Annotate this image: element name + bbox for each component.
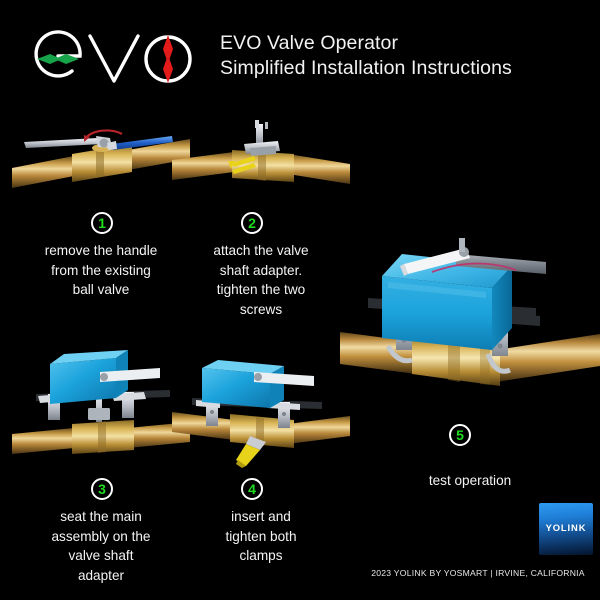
step-2-caption-line: attach the valve — [172, 241, 350, 261]
evo-logo-svg — [28, 28, 208, 90]
step-2-caption-line: tighten the two — [172, 280, 350, 300]
step-5-illustration — [340, 214, 600, 416]
valve-shaft-adapter — [244, 120, 280, 156]
step-2-caption-line: shaft adapter. — [172, 261, 350, 281]
step-4-caption-line: tighten both — [172, 527, 350, 547]
step-3-caption-line: seat the main — [12, 507, 190, 527]
removed-valve-handle — [24, 136, 112, 148]
evo-logo-letter-o — [146, 35, 190, 83]
step-1-caption-line: from the existing — [12, 261, 190, 281]
evo-actuator-body — [202, 360, 284, 408]
yolink-logo-text: YOLINK — [539, 522, 593, 533]
step-2-badge: 2 — [241, 212, 263, 234]
title-line-primary: EVO Valve Operator — [220, 31, 596, 56]
step-1-art — [12, 118, 190, 210]
step-3-caption-line: valve shaft — [12, 546, 190, 566]
step-5-caption-line: test operation — [340, 471, 600, 491]
instruction-poster: EVO Valve Operator Simplified Installati… — [0, 0, 600, 600]
yolink-brand-logo: YOLINK — [539, 503, 593, 555]
brass-ball-valve — [72, 144, 132, 182]
step-3-badge: 3 — [91, 478, 113, 500]
step-4-caption-line: clamps — [172, 546, 350, 566]
evo-logo-letter-e — [36, 32, 80, 76]
step-3-caption-line: adapter — [12, 566, 190, 586]
title-line-secondary: Simplified Installation Instructions — [220, 56, 596, 81]
step-5-badge: 5 — [449, 424, 471, 446]
step-4-caption: insert and tighten both clamps — [172, 507, 350, 566]
step-3-illustration — [12, 350, 190, 468]
step-2-art — [172, 118, 350, 210]
step-1-caption-line: remove the handle — [12, 241, 190, 261]
step-2-caption-line: screws — [172, 300, 350, 320]
step-1-badge: 1 — [91, 212, 113, 234]
step-5-caption: test operation — [340, 471, 600, 491]
step-4-illustration — [172, 350, 350, 468]
step-5-art — [340, 214, 600, 416]
footer-copyright: 2023 YOLINK BY YOSMART | IRVINE, CALIFOR… — [360, 568, 596, 578]
poster-title: EVO Valve Operator Simplified Installati… — [220, 31, 596, 81]
step-1-caption-line: ball valve — [12, 280, 190, 300]
step-3-caption: seat the main assembly on the valve shaf… — [12, 507, 190, 585]
step-1-illustration — [12, 118, 190, 210]
evo-logo — [28, 28, 208, 90]
step-4-badge: 4 — [241, 478, 263, 500]
step-4-caption-line: insert and — [172, 507, 350, 527]
step-2-illustration — [172, 118, 350, 210]
evo-logo-letter-v — [90, 36, 138, 81]
step-3-caption-line: assembly on the — [12, 527, 190, 547]
step-2-caption: attach the valve shaft adapter. tighten … — [172, 241, 350, 319]
step-1-caption: remove the handle from the existing ball… — [12, 241, 190, 300]
step-3-art — [12, 350, 190, 468]
brass-ball-valve — [72, 420, 134, 454]
step-4-art — [172, 350, 350, 468]
poster-header: EVO Valve Operator Simplified Installati… — [0, 0, 600, 112]
evo-logo-red-valve — [163, 35, 173, 83]
